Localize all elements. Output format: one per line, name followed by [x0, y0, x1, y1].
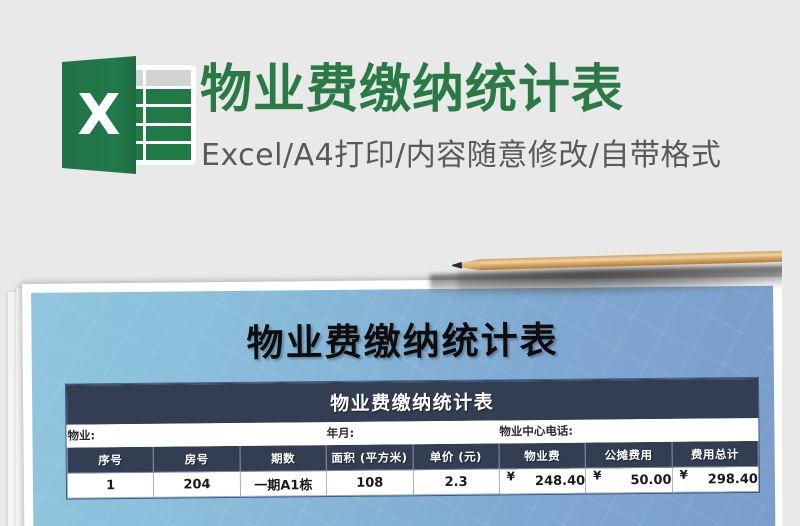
- table-title-row: 物业费缴纳统计表: [66, 378, 757, 424]
- spreadsheet-sheet: 物业费缴纳统计表 物业费缴纳统计表 物业: 年月: 物业中心电话: 序号 房号 …: [31, 286, 775, 526]
- column-header-index: 序号: [67, 446, 154, 473]
- column-header-phase: 期数: [240, 445, 327, 472]
- info-label-property[interactable]: 物业:: [67, 422, 326, 447]
- column-header-room: 房号: [153, 445, 240, 472]
- cell-area: 108: [326, 470, 413, 496]
- cell-fee-value: 248.40: [535, 473, 585, 488]
- banner-subtitle: Excel/A4打印/内容随意修改/自带格式: [201, 130, 721, 174]
- column-header-total: 费用总计: [672, 440, 759, 467]
- excel-logo-icon: X: [62, 56, 196, 174]
- cell-shared-fee: ¥ 50.00: [586, 467, 673, 493]
- spreadsheet-preview-card[interactable]: 物业费缴纳统计表 物业费缴纳统计表 物业: 年月: 物业中心电话: 序号 房号 …: [22, 277, 784, 526]
- property-fee-table: 物业费缴纳统计表 物业: 年月: 物业中心电话: 序号 房号 期数 面积 (平方…: [66, 378, 759, 499]
- column-header-fee: 物业费: [499, 442, 586, 469]
- pencil-body: [478, 251, 784, 271]
- sheet-title: 物业费缴纳统计表: [31, 308, 773, 369]
- info-label-yearmonth[interactable]: 年月:: [326, 420, 499, 445]
- excel-logo-letter: X: [62, 56, 136, 174]
- cell-index: 1: [67, 472, 154, 498]
- currency-symbol: ¥: [593, 468, 601, 482]
- cell-shared-fee-value: 50.00: [630, 472, 671, 487]
- currency-symbol: ¥: [507, 469, 515, 483]
- excel-logo-panel: X: [62, 56, 136, 174]
- banner-title: 物业费缴纳统计表: [200, 63, 624, 118]
- column-header-shared-fee: 公摊费用: [585, 441, 672, 468]
- cell-total-value: 298.40: [708, 471, 758, 486]
- pencil-lead: [452, 262, 462, 269]
- page-gutter: [782, 240, 800, 526]
- cell-unit-price: 2.3: [413, 469, 500, 495]
- cell-room: 204: [154, 471, 241, 497]
- cell-total: ¥ 298.40: [672, 466, 759, 492]
- cell-phase: 一期A1栋: [240, 471, 327, 497]
- currency-symbol: ¥: [679, 468, 687, 482]
- table-title: 物业费缴纳统计表: [66, 378, 757, 424]
- column-header-unit-price: 单价 (元): [413, 443, 500, 470]
- cell-fee: ¥ 248.40: [499, 468, 586, 494]
- table-row[interactable]: 1 204 一期A1栋 108 2.3 ¥ 248.40 ¥ 50.00: [67, 466, 758, 498]
- info-label-service-phone[interactable]: 物业中心电话:: [499, 417, 758, 442]
- column-header-area: 面积 (平方米): [326, 444, 413, 471]
- banner: X 物业费缴纳统计表 Excel/A4打印/内容随意修改/自带格式: [0, 0, 800, 240]
